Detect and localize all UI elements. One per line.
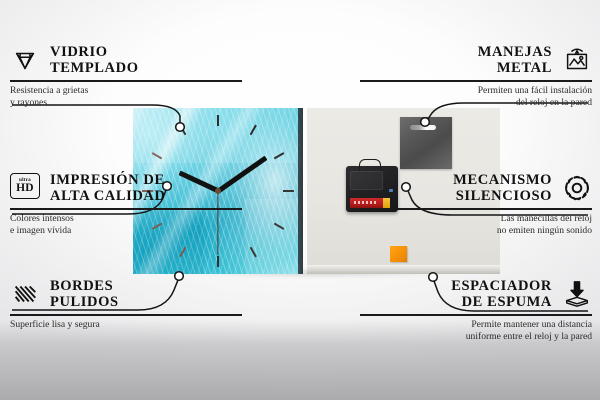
feature-description: Resistencia a grietas y rayones: [10, 85, 242, 110]
arrow-down-pad-icon: [562, 279, 592, 309]
clock-side-edge: [298, 108, 303, 274]
feature-divider: [10, 314, 242, 315]
feature-description: Superficie lisa y segura: [10, 319, 242, 331]
feature-title-line1: VIDRIO: [50, 44, 108, 60]
feature-header: ultra HD IMPRESIÓN DE ALTA CALIDAD: [10, 172, 242, 204]
feature-title-line1: ESPACIADOR: [451, 278, 552, 294]
feature-header: ESPACIADOR DE ESPUMA: [360, 278, 592, 310]
feature-title: ESPACIADOR DE ESPUMA: [451, 278, 552, 310]
hanger-slot: [410, 125, 436, 130]
feature-title-line2: METAL: [478, 60, 552, 76]
feature-divider: [10, 208, 242, 209]
ultra-hd-icon: ultra HD: [10, 173, 40, 203]
gear-icon: [562, 173, 592, 203]
foam-spacer-pad: [390, 246, 407, 262]
feature-title: MECANISMO SILENCIOSO: [453, 172, 552, 204]
infographic-canvas: VIDRIO TEMPLADO Resistencia a grietas y …: [0, 0, 600, 400]
feature-title-line2: ALTA CALIDAD: [50, 188, 166, 204]
feature-description: Las manecillas del reloj no emiten ningú…: [360, 213, 592, 238]
feature-desc-line1: Permite mantener una distancia: [360, 319, 592, 331]
feature-divider: [360, 314, 592, 315]
feature-title: VIDRIO TEMPLADO: [50, 44, 139, 76]
feature-header: MANEJAS METAL: [360, 44, 592, 76]
feature-header: BORDES PULIDOS: [10, 278, 242, 310]
feature-desc-line2: uniforme entre el reloj y la pared: [360, 331, 592, 343]
feature-title-line2: DE ESPUMA: [451, 294, 552, 310]
feature-title-line1: IMPRESIÓN DE: [50, 172, 165, 188]
feature-title-line1: MECANISMO: [453, 172, 552, 188]
feature-espaciador-espuma[interactable]: ESPACIADOR DE ESPUMA Permite mantener un…: [360, 278, 592, 343]
diamond-icon: [10, 45, 40, 75]
feature-desc-line2: y rayones: [10, 97, 242, 109]
feature-header: VIDRIO TEMPLADO: [10, 44, 242, 76]
feature-desc-line1: Resistencia a grietas: [10, 85, 242, 97]
hanging-loop: [359, 159, 381, 171]
feature-desc-line2: del reloj en la pared: [360, 97, 592, 109]
feature-manejas-metal[interactable]: MANEJAS METAL Permiten una fácil instala…: [360, 44, 592, 109]
metal-hanger-plate: [400, 117, 452, 169]
picture-frame-hanger-icon: [562, 45, 592, 75]
feature-title-line1: MANEJAS: [478, 44, 552, 60]
feature-title: BORDES PULIDOS: [50, 278, 119, 310]
feature-divider: [10, 80, 242, 81]
feature-title: IMPRESIÓN DE ALTA CALIDAD: [50, 172, 166, 204]
ultra-hd-large-text: HD: [16, 183, 34, 195]
feature-title-line2: SILENCIOSO: [453, 188, 552, 204]
feature-description: Permite mantener una distancia uniforme …: [360, 319, 592, 344]
feature-title: MANEJAS METAL: [478, 44, 552, 76]
feature-description: Colores intensos e imagen vívida: [10, 213, 242, 238]
feature-mecanismo-silencioso[interactable]: MECANISMO SILENCIOSO Las manecillas del …: [360, 172, 592, 237]
feature-desc-line2: e imagen vívida: [10, 225, 242, 237]
feature-bordes-pulidos[interactable]: BORDES PULIDOS Superficie lisa y segura: [10, 278, 242, 331]
feature-description: Permiten una fácil instalación del reloj…: [360, 85, 592, 110]
feature-title-line2: PULIDOS: [50, 294, 119, 310]
feature-desc-line1: Permiten una fácil instalación: [360, 85, 592, 97]
feature-title-line1: BORDES: [50, 278, 113, 294]
feature-title-line2: TEMPLADO: [50, 60, 139, 76]
feature-desc-line1: Colores intensos: [10, 213, 242, 225]
diagonal-lines-icon: [10, 279, 40, 309]
feature-impresion-alta-calidad[interactable]: ultra HD IMPRESIÓN DE ALTA CALIDAD Color…: [10, 172, 242, 237]
feature-vidrio-templado[interactable]: VIDRIO TEMPLADO Resistencia a grietas y …: [10, 44, 242, 109]
feature-desc-line1: Las manecillas del reloj: [360, 213, 592, 225]
feature-desc-line1: Superficie lisa y segura: [10, 319, 242, 331]
feature-divider: [360, 80, 592, 81]
feature-divider: [360, 208, 592, 209]
feature-desc-line2: no emiten ningún sonido: [360, 225, 592, 237]
feature-header: MECANISMO SILENCIOSO: [360, 172, 592, 204]
